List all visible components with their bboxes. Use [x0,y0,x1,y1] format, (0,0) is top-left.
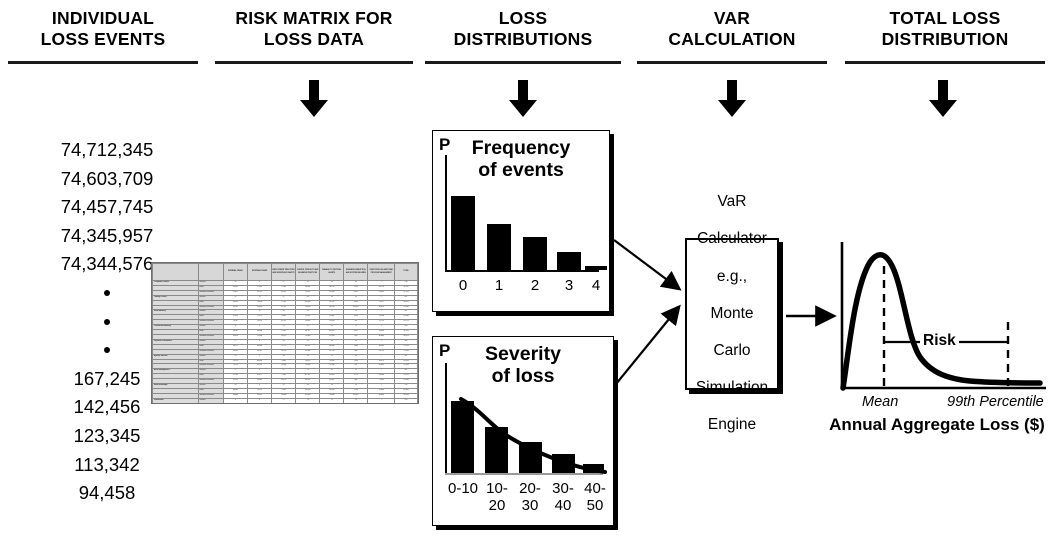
var-line-5: Simulation [696,379,768,398]
matrix-column-header: TOTAL [395,264,418,281]
var-calculator-text: VaR Calculator e.g., Monte Carlo Simulat… [696,193,768,435]
header-line-2: DISTRIBUTION [845,29,1045,50]
loss-event-value: 94,458 [18,479,196,508]
header-rule-3 [425,61,621,64]
header-rule-1 [8,61,198,64]
severity-tick-3: 30- 40 [547,481,579,514]
severity-tick-3-line1: 30- [552,480,574,497]
matrix-row-sub-label: Mean [198,403,223,404]
severity-tick-4-line1: 40- [584,480,606,497]
matrix-column-header [198,264,223,281]
matrix-column-header: BUSINESS DISRUPTION AND SYSTEM FAILURES [344,264,368,281]
matrix-cell: 78,011 [296,403,320,404]
header-line-1: RISK MATRIX FOR [215,8,413,29]
matrix-cell: 78,080 [320,403,344,404]
var-line-4: Carlo [696,342,768,361]
header-line-1: VAR [637,8,827,29]
matrix-column-header [153,264,199,281]
header-line-2: CALCULATION [637,29,827,50]
severity-decay-curve [445,357,610,477]
frequency-x-axis [445,270,599,272]
severity-tick-0: 0-10 [445,481,481,498]
severity-tick-2-line1: 20- [519,480,541,497]
var-line-6: Engine [696,416,768,435]
severity-tick-3-line2: 40 [555,497,572,514]
matrix-column-header: CLIENTS, PRODUCTS AND BUSINESS PRACTICES [296,264,320,281]
loss-event-value: 74,345,957 [18,222,196,251]
loss-event-value: 123,345 [18,422,196,451]
matrix-cell: 1,308 [344,403,368,404]
severity-tick-1-line2: 20 [489,497,506,514]
frequency-chart-box: P Frequency of events 0 1 2 3 4 [432,130,610,312]
header-line-2: DISTRIBUTIONS [425,29,621,50]
header-line-1: INDIVIDUAL [8,8,198,29]
severity-tick-2: 20- 30 [514,481,546,514]
matrix-row[interactable]: Mean13,01936,3081,10878,01178,0801,30811… [153,403,418,404]
frequency-y-axis [445,155,447,272]
var-calculator-box[interactable]: VaR Calculator e.g., Monte Carlo Simulat… [685,238,779,390]
frequency-bar-4 [585,266,607,270]
diagram-canvas: INDIVIDUAL LOSS EVENTS RISK MATRIX FOR L… [0,0,1056,540]
frequency-title-line-2: of events [433,159,609,181]
frequency-bar-0 [451,196,475,270]
matrix-row-group-label [153,403,199,404]
risk-matrix-grid: INTERNAL FRAUDEXTERNAL FRAUDEMPLOYMENT P… [152,263,418,404]
header-line-1: TOTAL LOSS [845,8,1045,29]
loss-event-value: 113,342 [18,451,196,480]
var-line-2: e.g., [696,268,768,287]
matrix-cell: 13,019 [223,403,247,404]
var-line-0: VaR [696,193,768,212]
matrix-column-header: EXECUTION, DELIVERY AND PROCESS MANAGEME… [368,264,395,281]
header-line-2: LOSS DATA [215,29,413,50]
total-loss-distribution-chart [828,238,1050,410]
var-line-3: Monte [696,305,768,324]
severity-tick-1-line1: 10- [486,480,508,497]
severity-tick-0-line1: 0-10 [448,480,478,497]
matrix-column-header: EXTERNAL FRAUD [248,264,272,281]
matrix-column-header: INTERNAL FRAUD [223,264,247,281]
header-var-calculation: VAR CALCULATION [637,8,827,50]
header-risk-matrix-for-loss-data: RISK MATRIX FOR LOSS DATA [215,8,413,50]
frequency-tick-2: 2 [523,278,547,295]
risk-span-label: Risk [920,332,959,350]
header-line-2: LOSS EVENTS [8,29,198,50]
header-rule-5 [845,61,1045,64]
down-arrow-to-loss-distributions [508,80,538,118]
frequency-bar-3 [557,252,581,270]
matrix-column-header: DAMAGE TO PHYSICAL ASSETS [320,264,344,281]
risk-matrix-table[interactable]: INTERNAL FRAUDEXTERNAL FRAUDEMPLOYMENT P… [151,262,419,404]
header-rule-4 [637,61,827,64]
down-arrow-to-risk-matrix [299,80,329,118]
matrix-cell: 28,308 [395,403,418,404]
frequency-tick-0: 0 [451,278,475,295]
var-line-1: Calculator [696,230,768,249]
frequency-chart-title: Frequency of events [433,137,609,181]
arrow-frequency-to-var [612,238,690,296]
matrix-cell: 1,108 [272,403,296,404]
down-arrow-to-total-loss-distribution [928,80,958,118]
severity-tick-2-line2: 30 [522,497,539,514]
severity-tick-1: 10- 20 [481,481,513,514]
percentile-label: 99th Percentile [947,394,1044,410]
arrow-severity-to-var [614,302,690,388]
matrix-cell: 36,308 [248,403,272,404]
mean-label: Mean [862,394,898,410]
frequency-tick-1: 1 [487,278,511,295]
severity-tick-4-line2: 50 [587,497,604,514]
loss-event-value: 74,457,745 [18,193,196,222]
matrix-cell: 11,188 [368,403,395,404]
severity-tick-4: 40- 50 [579,481,611,514]
header-individual-loss-events: INDIVIDUAL LOSS EVENTS [8,8,198,50]
header-rule-2 [215,61,413,64]
frequency-bar-2 [523,237,547,270]
total-loss-x-axis-label: Annual Aggregate Loss ($) [818,415,1056,435]
matrix-header-row: INTERNAL FRAUDEXTERNAL FRAUDEMPLOYMENT P… [153,264,418,281]
matrix-column-header: EMPLOYMENT PRACTICES AND WORKPLACE SAFET… [272,264,296,281]
frequency-bar-1 [487,224,511,270]
header-total-loss-distribution: TOTAL LOSS DISTRIBUTION [845,8,1045,50]
header-loss-distributions: LOSS DISTRIBUTIONS [425,8,621,50]
severity-chart-box: P Severity of loss 0-10 10- 20 20- 30 30 [432,336,614,526]
frequency-title-line-1: Frequency [433,137,609,159]
loss-event-value: 74,603,709 [18,165,196,194]
header-line-1: LOSS [425,8,621,29]
frequency-tick-3: 3 [557,278,581,295]
down-arrow-to-var-calculation [717,80,747,118]
frequency-tick-4: 4 [585,278,607,295]
loss-event-value: 74,712,345 [18,136,196,165]
